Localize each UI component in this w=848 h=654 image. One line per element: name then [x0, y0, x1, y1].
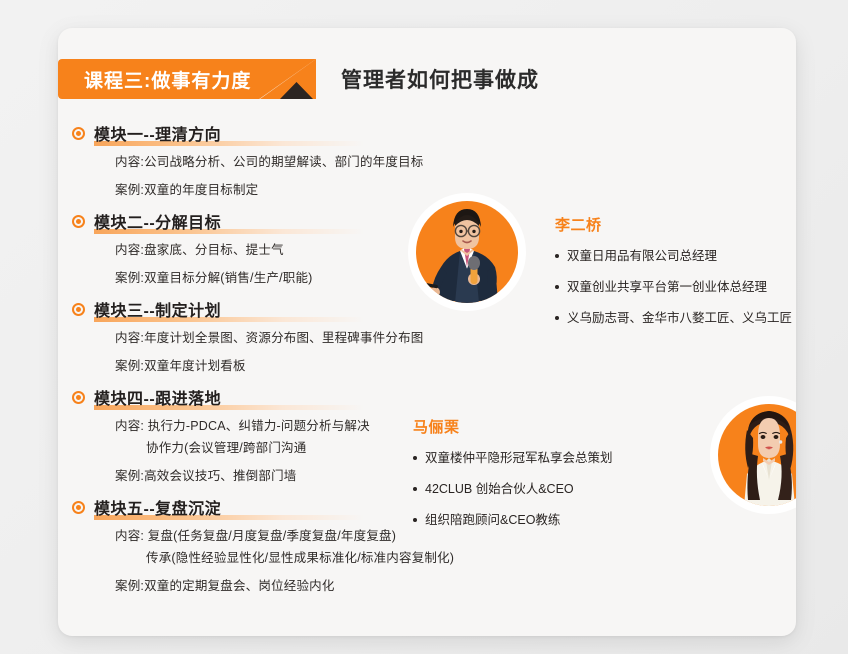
module-line: 内容: 执行力-PDCA、纠错力-问题分析与解决: [115, 416, 464, 436]
credential-text: 42CLUB 创始合伙人&CEO: [425, 480, 574, 498]
speaker-info-1: 李二桥 双童日用品有限公司总经理 双童创业共享平台第一创业体总经理 义乌励志哥、…: [555, 214, 792, 340]
module-line: 协作力(会议管理/跨部门沟通: [115, 438, 464, 458]
module-item: 模块四--跟进落地 内容: 执行力-PDCA、纠错力-问题分析与解决 协作力(会…: [64, 384, 464, 486]
speaker-credential: 组织陪跑顾问&CEO教练: [413, 511, 613, 529]
module-header: 模块三--制定计划: [64, 296, 464, 322]
speaker-credential: 义乌励志哥、金华市八婺工匠、义乌工匠: [555, 309, 792, 327]
credential-text: 双童日用品有限公司总经理: [567, 247, 717, 265]
module-item: 模块一--理清方向 内容:公司战略分析、公司的期望解读、部门的年度目标 案例:双…: [64, 120, 464, 200]
female-speaker-photo: [710, 396, 796, 514]
speaker-credential: 双童创业共享平台第一创业体总经理: [555, 278, 792, 296]
module-title: 模块一--理清方向: [94, 121, 221, 145]
module-body: 内容: 执行力-PDCA、纠错力-问题分析与解决 协作力(会议管理/跨部门沟通 …: [64, 410, 464, 486]
credential-text: 义乌励志哥、金华市八婺工匠、义乌工匠: [567, 309, 792, 327]
speaker-credential: 42CLUB 创始合伙人&CEO: [413, 480, 613, 498]
module-line: 案例:双童年度计划看板: [115, 356, 464, 376]
module-header: 模块二--分解目标: [64, 208, 464, 234]
dot-bullet-icon: [555, 254, 559, 258]
course-card: 课程三:做事有力度 管理者如何把事做成 模块一--理清方向 内容:公司战略分析、…: [58, 28, 796, 636]
page-title: 管理者如何把事做成: [341, 59, 539, 99]
page-root: 课程三:做事有力度 管理者如何把事做成 模块一--理清方向 内容:公司战略分析、…: [0, 0, 848, 654]
speaker-name: 李二桥: [555, 214, 792, 235]
ribbon-label: 课程三:做事有力度: [84, 59, 251, 99]
module-list: 模块一--理清方向 内容:公司战略分析、公司的期望解读、部门的年度目标 案例:双…: [64, 120, 464, 604]
speaker-credential: 双童楼仲平隐形冠军私享会总策划: [413, 449, 613, 467]
credential-text: 双童创业共享平台第一创业体总经理: [567, 278, 767, 296]
male-speaker-photo: [408, 193, 526, 311]
module-item: 模块三--制定计划 内容:年度计划全景图、资源分布图、里程碑事件分布图 案例:双…: [64, 296, 464, 376]
module-body: 内容:年度计划全景图、资源分布图、里程碑事件分布图 案例:双童年度计划看板: [64, 322, 464, 376]
module-title: 模块五--复盘沉淀: [94, 495, 221, 519]
course-ribbon-banner: 课程三:做事有力度: [58, 59, 316, 99]
module-header: 模块五--复盘沉淀: [64, 494, 464, 520]
module-title: 模块三--制定计划: [94, 297, 221, 321]
module-header: 模块一--理清方向: [64, 120, 464, 146]
ring-bullet-icon: [72, 127, 85, 140]
speaker-name: 马俪栗: [413, 416, 613, 437]
module-line: 内容:公司战略分析、公司的期望解读、部门的年度目标: [115, 152, 464, 172]
dot-bullet-icon: [413, 518, 417, 522]
module-item: 模块二--分解目标 内容:盘家底、分目标、提士气 案例:双童目标分解(销售/生产…: [64, 208, 464, 288]
ring-bullet-icon: [72, 501, 85, 514]
module-title: 模块四--跟进落地: [94, 385, 221, 409]
credential-text: 组织陪跑顾问&CEO教练: [425, 511, 560, 529]
module-line: 案例:双童的定期复盘会、岗位经验内化: [115, 576, 464, 596]
male-speaker-illustration: [408, 193, 526, 353]
module-line: 传承(隐性经验显性化/显性成果标准化/标准内容复制化): [115, 548, 464, 568]
speaker-credential: 双童日用品有限公司总经理: [555, 247, 792, 265]
module-title: 模块二--分解目标: [94, 209, 221, 233]
speaker-info-2: 马俪栗 双童楼仲平隐形冠军私享会总策划 42CLUB 创始合伙人&CEO 组织陪…: [413, 416, 613, 542]
module-body: 内容:公司战略分析、公司的期望解读、部门的年度目标 案例:双童的年度目标制定: [64, 146, 464, 200]
module-body: 内容: 复盘(任务复盘/月度复盘/季度复盘/年度复盘) 传承(隐性经验显性化/显…: [64, 520, 464, 596]
ring-bullet-icon: [72, 391, 85, 404]
module-item: 模块五--复盘沉淀 内容: 复盘(任务复盘/月度复盘/季度复盘/年度复盘) 传承…: [64, 494, 464, 596]
module-line: 内容: 复盘(任务复盘/月度复盘/季度复盘/年度复盘): [115, 526, 464, 546]
dot-bullet-icon: [555, 316, 559, 320]
dot-bullet-icon: [555, 285, 559, 289]
female-speaker-illustration: [710, 396, 796, 556]
module-body: 内容:盘家底、分目标、提士气 案例:双童目标分解(销售/生产/职能): [64, 234, 464, 288]
module-line: 案例:高效会议技巧、推倒部门墙: [115, 466, 464, 486]
ring-bullet-icon: [72, 303, 85, 316]
credential-text: 双童楼仲平隐形冠军私享会总策划: [425, 449, 613, 467]
ring-bullet-icon: [72, 215, 85, 228]
dot-bullet-icon: [413, 456, 417, 460]
module-header: 模块四--跟进落地: [64, 384, 464, 410]
dot-bullet-icon: [413, 487, 417, 491]
